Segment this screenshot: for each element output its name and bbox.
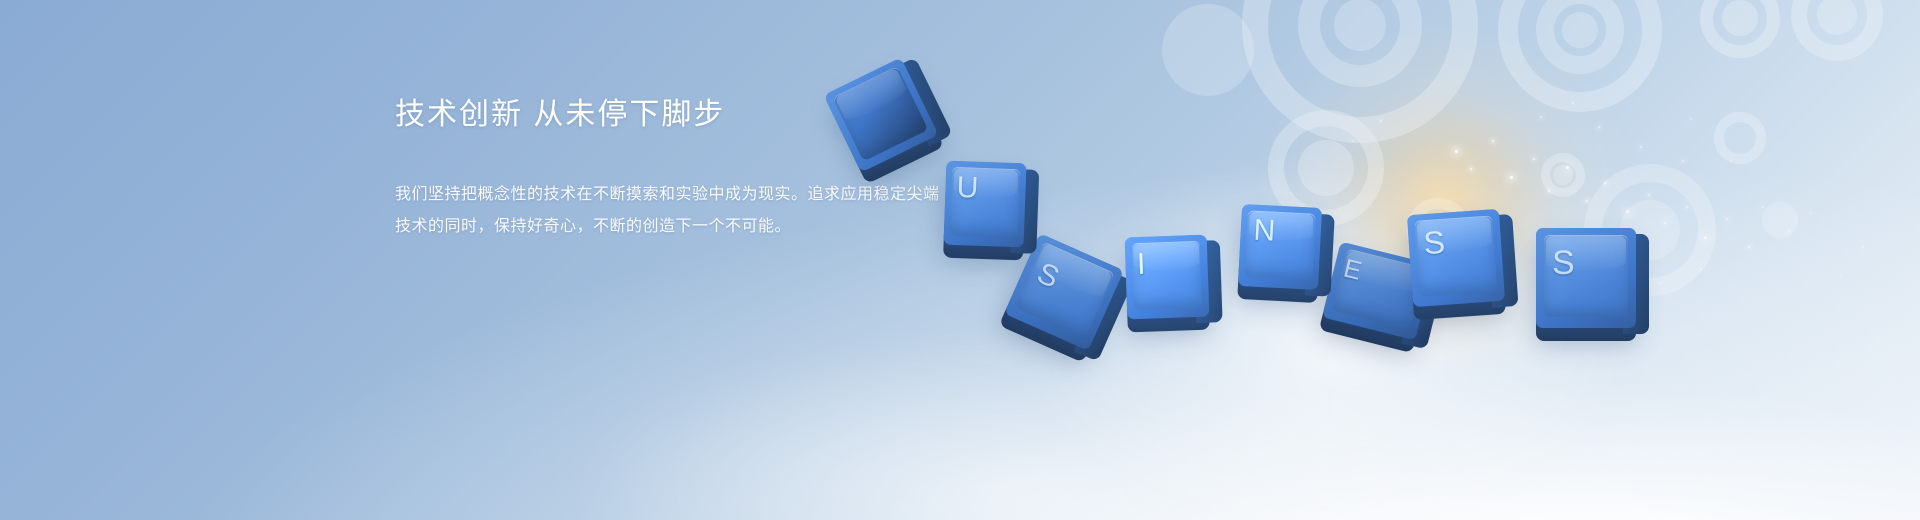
- keycap-letter: S: [1552, 246, 1575, 280]
- sparkle-dot: [1572, 102, 1574, 104]
- ring-decoration: [1498, 0, 1662, 112]
- keycap-letter: I: [1137, 250, 1146, 280]
- keycap-letter: U: [956, 173, 979, 204]
- sparkle-dot: [1586, 200, 1588, 202]
- sparkle-dot: [1598, 126, 1600, 128]
- sparkle-dot: [1455, 150, 1458, 153]
- sparkle-dot: [1470, 168, 1472, 170]
- hero-banner: 技术创新 从未停下脚步 我们坚持把概念性的技术在不断摸索和实验中成为现实。追求应…: [0, 0, 1920, 520]
- sparkle-dot: [1726, 218, 1728, 220]
- sparkle-dot: [1626, 210, 1629, 213]
- sparkle-dot: [1664, 222, 1666, 224]
- keycap-letter: N: [1253, 216, 1276, 247]
- hero-description: 我们坚持把概念性的技术在不断摸索和实验中成为现实。追求应用稳定尖端 技术的同时，…: [395, 179, 955, 243]
- sparkle-dot: [1690, 118, 1692, 120]
- sparkle-dot: [1704, 236, 1707, 239]
- ring-decoration: [1334, 0, 1386, 51]
- sparkle-dot: [1380, 120, 1382, 122]
- sparkle-dot: [1686, 206, 1688, 208]
- sparkle-dot: [1492, 140, 1494, 142]
- ring-decoration: [1791, 0, 1883, 61]
- ring-decoration: [1298, 140, 1354, 196]
- hero-description-line-1: 我们坚持把概念性的技术在不断摸索和实验中成为现实。追求应用稳定尖端: [395, 179, 955, 211]
- sparkle-dot: [1700, 268, 1702, 270]
- sparkle-dot: [1640, 146, 1642, 148]
- keycap-letter: S: [1422, 226, 1446, 259]
- ring-decoration: [1714, 112, 1766, 164]
- ring-decoration: [1562, 12, 1598, 48]
- sparkle-dot: [1788, 230, 1790, 232]
- ring-decoration: [1817, 0, 1857, 35]
- ring-decoration: [1722, 0, 1758, 36]
- sparkle-dot: [1604, 182, 1606, 184]
- sparkle-dot: [1660, 282, 1662, 284]
- sparkle-dot: [1840, 276, 1842, 278]
- keycap-u-1: U: [944, 161, 1027, 248]
- sparkle-dot: [1548, 190, 1550, 192]
- bottom-glow: [560, 330, 1460, 520]
- sparkle-dot: [1648, 194, 1650, 196]
- sparkle-dot: [1762, 206, 1764, 208]
- ring-decoration: [1162, 4, 1254, 96]
- sparkle-dot: [1510, 176, 1513, 179]
- sparkle-dot: [1533, 158, 1535, 160]
- sparkle-dot: [1862, 246, 1864, 248]
- hero-description-line-2: 技术的同时，保持好奇心，不断的创造下一个不可能。: [395, 211, 955, 243]
- keycap-n-4: N: [1238, 204, 1322, 290]
- keycap-s-6: S: [1407, 209, 1505, 307]
- sparkle-dot: [1730, 160, 1732, 162]
- sparkle-dot: [1810, 212, 1812, 214]
- ring-decoration: [1700, 0, 1780, 58]
- sparkle-dot: [1540, 116, 1542, 118]
- sparkle-dot: [1352, 140, 1354, 142]
- sparkle-dot: [1682, 160, 1684, 162]
- keycap-i-3: I: [1125, 235, 1210, 320]
- ring-decoration: [1553, 165, 1573, 185]
- sparkle-dot: [1566, 166, 1569, 169]
- ring-decoration: [1762, 202, 1798, 238]
- keycap-s-7: S: [1536, 228, 1636, 328]
- ring-decoration: [1242, 0, 1478, 143]
- sparkle-dot: [1748, 246, 1750, 248]
- ring-decoration: [1536, 0, 1624, 74]
- ring-decoration: [1298, 0, 1422, 87]
- ring-decoration: [1541, 153, 1585, 197]
